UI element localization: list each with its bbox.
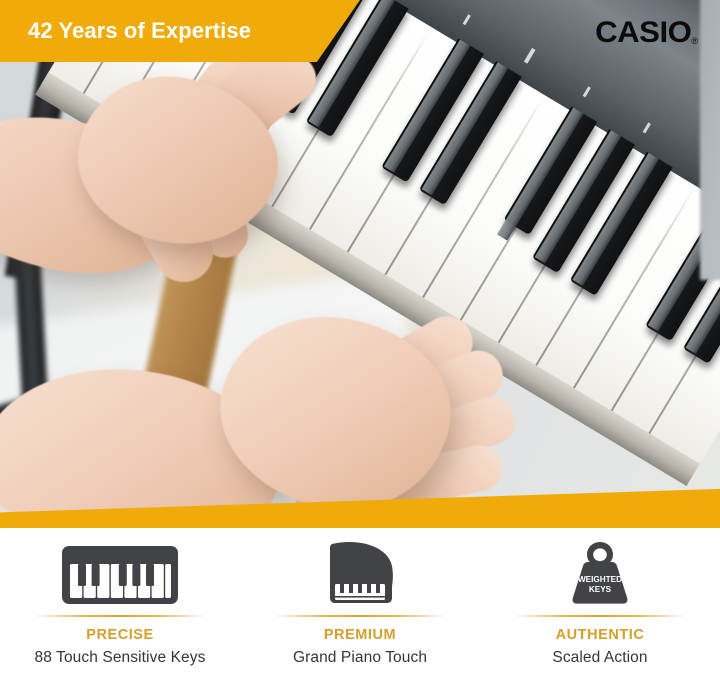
weight-icon-label-line2: KEYS — [589, 585, 612, 594]
weight-icon: WEIGHTED KEYS — [564, 540, 636, 606]
casio-logo: CASIO ® — [597, 18, 698, 48]
grand-piano-icon — [318, 540, 402, 606]
feature-list: PRECISE 88 Touch Sensitive Keys — [0, 528, 720, 675]
keyboard-far-panel — [700, 0, 720, 280]
feature-divider — [273, 615, 447, 617]
feature-item-authentic: WEIGHTED KEYS AUTHENTIC Scaled Action — [480, 528, 720, 675]
feature-title: PRECISE — [86, 627, 154, 643]
feature-title: PREMIUM — [324, 627, 396, 643]
weight-icon-label-line1: WEIGHTED — [578, 575, 622, 584]
feature-item-precise: PRECISE 88 Touch Sensitive Keys — [0, 528, 240, 675]
banner-title: 42 Years of Expertise — [0, 18, 251, 44]
piano-keyboard-icon — [60, 540, 180, 606]
feature-divider — [513, 615, 687, 617]
feature-divider — [33, 615, 207, 617]
expertise-banner: 42 Years of Expertise — [0, 0, 360, 62]
feature-subtitle: 88 Touch Sensitive Keys — [35, 649, 206, 667]
feature-subtitle: Scaled Action — [552, 649, 647, 667]
hero-photo — [0, 0, 720, 528]
product-feature-card: 42 Years of Expertise CASIO ® — [0, 0, 720, 675]
feature-subtitle: Grand Piano Touch — [293, 649, 427, 667]
registered-trademark-icon: ® — [691, 37, 698, 46]
feature-title: AUTHENTIC — [556, 627, 645, 643]
casio-wordmark: CASIO — [595, 18, 691, 48]
feature-item-premium: PREMIUM Grand Piano Touch — [240, 528, 480, 675]
